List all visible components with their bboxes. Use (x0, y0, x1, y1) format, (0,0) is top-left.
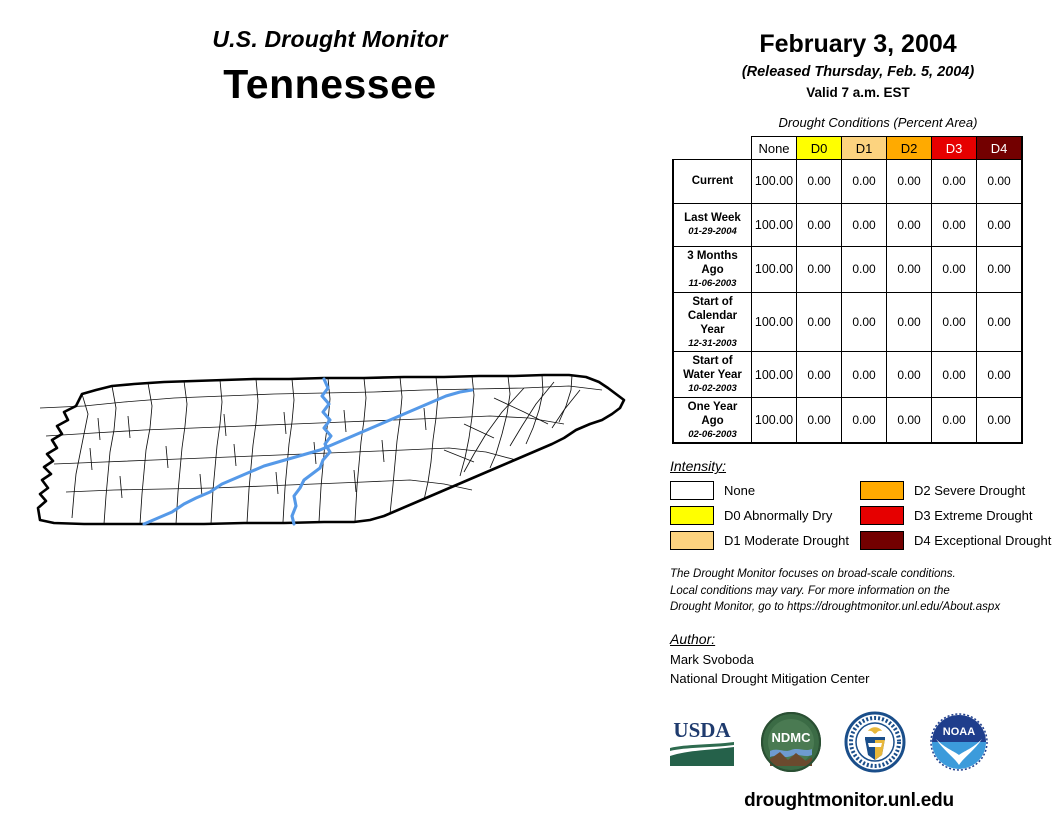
row-date-text: 02-06-2003 (678, 429, 747, 441)
release-date: February 3, 2004 (660, 30, 1056, 59)
disclaimer-text: The Drought Monitor focuses on broad-sca… (670, 566, 1056, 615)
legend-label-d0: D0 Abnormally Dry (724, 508, 832, 523)
row-date-text: 11-06-2003 (678, 278, 747, 290)
author-organization: National Drought Mitigation Center (670, 670, 1056, 689)
cell-d3: 0.00 (932, 203, 977, 247)
legend-item-d2[interactable]: D2 Severe Drought (860, 481, 1056, 500)
table-row: Start of Calendar Year 12-31-2003 100.00… (673, 292, 1022, 352)
drought-map[interactable] (24, 368, 644, 548)
cell-d0: 0.00 (797, 352, 842, 398)
row-label-start-of-calendar-year: Start of Calendar Year 12-31-2003 (673, 292, 752, 352)
cell-d0: 0.00 (797, 397, 842, 443)
author-name: Mark Svoboda (670, 651, 1056, 670)
usdc-seal-logo[interactable] (844, 711, 906, 778)
row-label-start-of-water-year: Start of Water Year 10-02-2003 (673, 352, 752, 398)
cell-d3: 0.00 (932, 160, 977, 204)
column-header-d4: D4 (977, 137, 1023, 160)
cell-d2: 0.00 (887, 160, 932, 204)
cell-d4: 0.00 (977, 292, 1023, 352)
table-row: Start of Water Year 10-02-2003 100.00 0.… (673, 352, 1022, 398)
cell-d3: 0.00 (932, 292, 977, 352)
cell-d4: 0.00 (977, 247, 1023, 293)
row-label-text: Last Week (684, 212, 741, 224)
cell-none: 100.00 (752, 292, 797, 352)
cell-d1: 0.00 (842, 247, 887, 293)
table-row: One Year Ago 02-06-2003 100.00 0.00 0.00… (673, 397, 1022, 443)
cell-d4: 0.00 (977, 160, 1023, 204)
legend-grid: None D2 Severe Drought D0 Abnormally Dry… (670, 481, 1056, 550)
legend-label-d4: D4 Exceptional Drought (914, 533, 1051, 548)
intensity-legend: Intensity: None D2 Severe Drought D0 Abn… (670, 458, 1056, 550)
row-date-text: 12-31-2003 (678, 338, 747, 350)
row-date-text: 10-02-2003 (678, 383, 747, 395)
ndmc-logo[interactable]: NDMC (760, 711, 822, 778)
column-header-d1: D1 (842, 137, 887, 160)
ndmc-wordmark: NDMC (772, 730, 812, 745)
page-title: U.S. Drought Monitor (0, 26, 660, 53)
legend-swatch-d0 (670, 506, 714, 525)
cell-d3: 0.00 (932, 397, 977, 443)
table-corner-cell (673, 137, 752, 160)
row-label-text: Start of Calendar Year (688, 296, 737, 336)
column-header-d3: D3 (932, 137, 977, 160)
cell-d4: 0.00 (977, 397, 1023, 443)
cell-none: 100.00 (752, 397, 797, 443)
cell-none: 100.00 (752, 203, 797, 247)
cell-none: 100.00 (752, 160, 797, 204)
row-label-text: One Year Ago (688, 401, 738, 427)
row-date-text: 01-29-2004 (678, 226, 747, 238)
row-label-last-week: Last Week 01-29-2004 (673, 203, 752, 247)
table-row: Current 100.00 0.00 0.00 0.00 0.00 0.00 (673, 160, 1022, 204)
cell-none: 100.00 (752, 352, 797, 398)
row-label-3-months-ago: 3 Months Ago 11-06-2003 (673, 247, 752, 293)
column-header-d2: D2 (887, 137, 932, 160)
right-panel: February 3, 2004 (Released Thursday, Feb… (660, 0, 1056, 816)
disclaimer-line-3: Drought Monitor, go to https://droughtmo… (670, 599, 1056, 615)
row-label-text: Start of Water Year (683, 355, 742, 381)
column-header-none: None (752, 137, 797, 160)
row-label-current: Current (673, 160, 752, 204)
legend-item-d1[interactable]: D1 Moderate Drought (670, 531, 860, 550)
cell-d2: 0.00 (887, 292, 932, 352)
noaa-logo[interactable]: NOAA (928, 711, 990, 778)
legend-item-d4[interactable]: D4 Exceptional Drought (860, 531, 1056, 550)
cell-d0: 0.00 (797, 292, 842, 352)
legend-label-d2: D2 Severe Drought (914, 483, 1025, 498)
usda-logo[interactable]: USDA (666, 714, 738, 775)
cell-d2: 0.00 (887, 397, 932, 443)
date-block: February 3, 2004 (Released Thursday, Feb… (660, 0, 1056, 100)
cell-d0: 0.00 (797, 160, 842, 204)
table-body: Current 100.00 0.00 0.00 0.00 0.00 0.00 … (673, 160, 1022, 444)
legend-swatch-none (670, 481, 714, 500)
table-header-row: None D0 D1 D2 D3 D4 (673, 137, 1022, 160)
cell-d3: 0.00 (932, 247, 977, 293)
legend-swatch-d1 (670, 531, 714, 550)
cell-d4: 0.00 (977, 203, 1023, 247)
legend-swatch-d4 (860, 531, 904, 550)
intensity-heading: Intensity: (670, 458, 1056, 474)
disclaimer-line-2: Local conditions may vary. For more info… (670, 583, 1056, 599)
legend-item-d3[interactable]: D3 Extreme Drought (860, 506, 1056, 525)
legend-item-none[interactable]: None (670, 481, 860, 500)
legend-swatch-d3 (860, 506, 904, 525)
valid-time: Valid 7 a.m. EST (660, 85, 1056, 100)
cell-none: 100.00 (752, 247, 797, 293)
legend-label-d1: D1 Moderate Drought (724, 533, 849, 548)
row-label-one-year-ago: One Year Ago 02-06-2003 (673, 397, 752, 443)
table-row: Last Week 01-29-2004 100.00 0.00 0.00 0.… (673, 203, 1022, 247)
cell-d2: 0.00 (887, 203, 932, 247)
cell-d2: 0.00 (887, 352, 932, 398)
row-label-text: Current (692, 175, 734, 187)
author-heading: Author: (670, 631, 1056, 647)
cell-d1: 0.00 (842, 203, 887, 247)
noaa-wordmark: NOAA (943, 726, 975, 738)
cell-d2: 0.00 (887, 247, 932, 293)
cell-d1: 0.00 (842, 292, 887, 352)
author-section: Author: Mark Svoboda National Drought Mi… (670, 631, 1056, 689)
legend-label-none: None (724, 483, 755, 498)
legend-label-d3: D3 Extreme Drought (914, 508, 1033, 523)
cell-d3: 0.00 (932, 352, 977, 398)
cell-d0: 0.00 (797, 247, 842, 293)
logo-row: USDA NDMC (666, 711, 1056, 778)
cell-d1: 0.00 (842, 397, 887, 443)
disclaimer-line-1: The Drought Monitor focuses on broad-sca… (670, 566, 1056, 582)
legend-item-d0[interactable]: D0 Abnormally Dry (670, 506, 860, 525)
cell-d1: 0.00 (842, 352, 887, 398)
cell-d0: 0.00 (797, 203, 842, 247)
drought-conditions-table: None D0 D1 D2 D3 D4 Current 100.00 0.00 … (672, 136, 1023, 444)
cell-d4: 0.00 (977, 352, 1023, 398)
usda-wordmark: USDA (673, 718, 731, 742)
released-date: (Released Thursday, Feb. 5, 2004) (660, 64, 1056, 80)
column-header-d0: D0 (797, 137, 842, 160)
legend-swatch-d2 (860, 481, 904, 500)
title-block: U.S. Drought Monitor Tennessee (0, 26, 660, 108)
state-title: Tennessee (0, 61, 660, 108)
table-caption: Drought Conditions (Percent Area) (660, 115, 1056, 130)
row-label-text: 3 Months Ago (687, 250, 737, 276)
table-row: 3 Months Ago 11-06-2003 100.00 0.00 0.00… (673, 247, 1022, 293)
cell-d1: 0.00 (842, 160, 887, 204)
site-url[interactable]: droughtmonitor.unl.edu (660, 790, 1056, 812)
